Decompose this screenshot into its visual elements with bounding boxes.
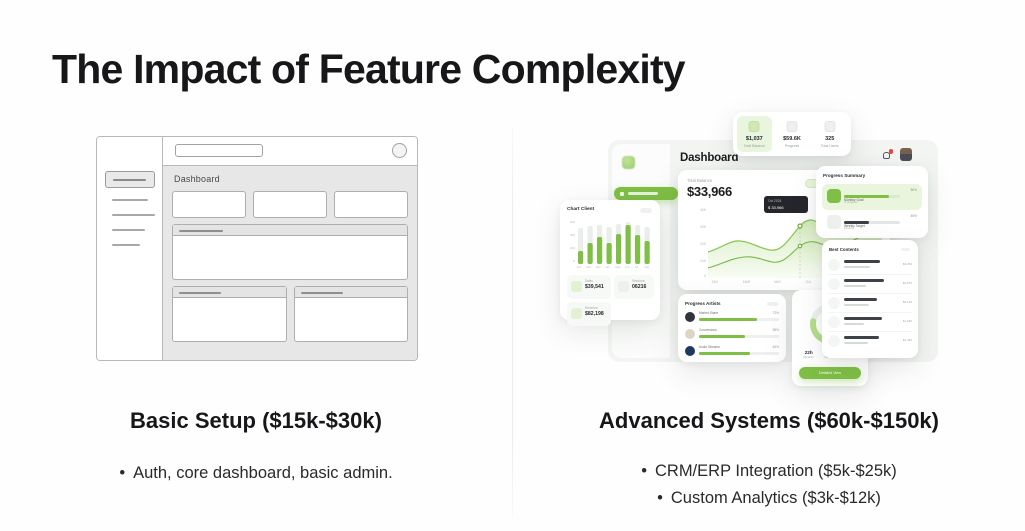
x-tick: Apr — [606, 265, 610, 269]
stat-value: 06216 — [632, 284, 650, 290]
stat-label: Sales — [585, 279, 607, 283]
wireframe-main: Dashboard — [163, 137, 417, 360]
list-item[interactable]: $1,430 — [828, 332, 912, 351]
wireframe-stat-row — [172, 191, 408, 218]
list-item[interactable]: $2,140 — [828, 294, 912, 313]
avatar[interactable] — [900, 148, 912, 161]
row-line-secondary — [844, 323, 864, 325]
gauge-stat-label: Duration — [798, 356, 819, 359]
target-icon — [828, 297, 840, 309]
bullet-item: Custom Analytics ($3k-$12k) — [513, 485, 1025, 512]
avatar-icon — [685, 346, 695, 356]
y-tick: 400 — [570, 233, 575, 237]
row-line-secondary — [844, 304, 869, 306]
stat-value: $82,198 — [585, 311, 607, 317]
x-tick: Jan — [577, 265, 582, 269]
wireframe-stat-card — [172, 191, 246, 218]
y-tick: 30K — [700, 225, 706, 229]
client-chart-y-axis: 600 400 200 0 — [565, 220, 575, 266]
dashboard-nav-item-dashboard[interactable] — [614, 187, 678, 200]
x-tick: MAY — [774, 280, 781, 284]
button-label: Detailed View — [799, 371, 861, 375]
calendar-icon — [828, 335, 840, 347]
gauge-stat-value: 22h — [798, 350, 819, 355]
wireframe-nav-item-4[interactable] — [112, 244, 140, 246]
stat-icon-2 — [787, 121, 798, 132]
progress-summary-card: Progress Summary Monthly Goal 80% In pro… — [816, 166, 928, 238]
wireframe-dashboard-label: Dashboard — [174, 174, 220, 184]
summary-row-active[interactable]: Monthly Goal 80% In progress — [822, 184, 922, 210]
summary-progress-bar — [844, 221, 900, 224]
user-icon — [827, 189, 841, 203]
stat-card-2[interactable]: $59.6K Progress — [775, 116, 810, 152]
summary-row-sub: Pending — [844, 227, 854, 230]
progress-percent: 58% — [773, 328, 779, 332]
wireframe-sidebar — [97, 137, 163, 360]
summary-row[interactable]: Weekly Target 45% Pending — [822, 210, 922, 236]
row-line-primary — [844, 260, 880, 263]
y-tick: 600 — [570, 220, 575, 224]
revenue-icon — [571, 308, 582, 319]
client-chart-x-axis: Jan Feb Mar Apr May Jun Jul Aug — [576, 265, 653, 270]
y-tick: 200 — [570, 246, 575, 250]
stat-value-2: $59.6K — [775, 136, 810, 142]
progress-artists-card: Progress Artists Market Share 72% Conver… — [678, 294, 786, 362]
left-column-heading: Basic Setup ($15k-$30k) — [0, 408, 512, 434]
list-item[interactable]: $1,920 — [828, 313, 912, 332]
stat-label: Revenue — [585, 306, 607, 310]
row-value: $1,430 — [903, 338, 912, 342]
y-tick: 20K — [700, 242, 706, 246]
dashboard-title: Dashboard — [680, 152, 738, 164]
chart-y-axis: 40K 30K 20K 10K 0 — [686, 208, 706, 280]
x-tick: Jun — [625, 265, 630, 269]
x-tick: May — [615, 265, 620, 269]
client-chart-menu-icon[interactable] — [640, 208, 652, 213]
x-tick: Feb — [586, 265, 591, 269]
client-stat-sessions: Sessions 06216 — [614, 275, 654, 299]
right-column-heading: Advanced Systems ($60k-$150k) — [513, 408, 1025, 434]
summary-row-percent: 80% — [911, 188, 917, 192]
progress-row: Conversions 58% — [685, 328, 779, 343]
avatar-icon — [685, 312, 695, 322]
row-line-primary — [844, 317, 882, 320]
stat-label-1: Total Balance — [737, 144, 772, 148]
stat-label-2: Progress — [775, 144, 810, 148]
row-value: $1,920 — [903, 319, 912, 323]
summary-row-sub: In progress — [844, 201, 857, 204]
y-tick: 0 — [704, 274, 706, 278]
wireframe-nav-item-1[interactable] — [112, 199, 148, 201]
list-item[interactable]: $3,250 — [828, 256, 912, 275]
row-line-primary — [844, 279, 884, 282]
wireframe-avatar[interactable] — [392, 143, 407, 158]
tooltip-value: $ 33,966 — [768, 205, 804, 210]
stat-icon-1 — [749, 121, 760, 132]
stat-label: Sessions — [632, 279, 650, 283]
row-line-secondary — [844, 266, 870, 268]
gear-icon — [827, 215, 841, 229]
client-stat-sales: Sales $39,541 — [567, 275, 611, 299]
progress-percent: 72% — [773, 311, 779, 315]
wireframe-bottom-row — [172, 286, 408, 342]
y-tick: 10K — [700, 259, 706, 263]
wireframe-panel-header — [173, 287, 286, 298]
row-line-primary — [844, 336, 879, 339]
sessions-icon — [618, 281, 629, 292]
left-column-bullets: Auth, core dashboard, basic admin. — [0, 460, 512, 487]
avatar-icon — [685, 329, 695, 339]
wireframe-bottom-panel — [294, 286, 409, 342]
sales-icon — [571, 281, 582, 292]
x-tick: JUL — [805, 280, 811, 284]
wireframe-nav-active[interactable] — [105, 171, 155, 188]
row-value: $2,140 — [903, 300, 912, 304]
stat-card-1[interactable]: $1,037 Total Balance — [737, 116, 772, 152]
wireframe-stat-card — [253, 191, 327, 218]
summary-progress-bar — [844, 195, 900, 198]
wireframe-search-input[interactable] — [175, 144, 263, 157]
bar-chart-svg — [576, 222, 653, 264]
wireframe-bottom-panel — [172, 286, 287, 342]
documents-list-card: Best Contents $3,250 $2,870 $2,140 — [822, 240, 918, 358]
row-line-secondary — [844, 342, 868, 344]
progress-bar — [699, 352, 779, 355]
stat-card-3[interactable]: 325 Total Users — [812, 116, 847, 152]
progress-percent: 64% — [773, 345, 779, 349]
wireframe-panel-header — [173, 225, 407, 236]
x-tick: MAR — [743, 280, 751, 284]
chart-tooltip: Oct 2024 $ 33,966 — [764, 196, 808, 213]
progress-name: Market Share — [699, 311, 718, 315]
progress-card-menu-icon[interactable] — [767, 302, 778, 306]
dashboard-logo-icon — [622, 156, 635, 169]
stat-value: $39,541 — [585, 284, 607, 290]
page-title: The Impact of Feature Complexity — [52, 46, 685, 93]
card-icon — [828, 316, 840, 328]
x-tick: Mar — [596, 265, 601, 269]
slide-root: The Impact of Feature Complexity Dashboa… — [0, 0, 1025, 531]
x-tick: JAN — [711, 280, 717, 284]
client-chart-plot — [576, 222, 653, 264]
wireframe-wide-panel — [172, 224, 408, 280]
progress-bar — [699, 318, 779, 321]
documents-title: Best Contents — [829, 247, 911, 252]
wireframe-panel-header — [295, 287, 408, 298]
stat-label-3: Total Users — [812, 144, 847, 148]
detailed-view-button[interactable]: Detailed View — [799, 367, 861, 379]
group-icon — [828, 278, 840, 290]
wireframe-nav-item-3[interactable] — [112, 229, 145, 231]
stat-icon-3 — [824, 121, 835, 132]
stat-value-3: 325 — [812, 136, 847, 142]
progress-name: Audio Streams — [699, 345, 720, 349]
x-tick: Aug — [644, 265, 649, 269]
basic-wireframe-mockup: Dashboard — [96, 136, 418, 361]
progress-name: Conversions — [699, 328, 717, 332]
row-value: $3,250 — [903, 262, 912, 266]
gauge-stat-1: 22h Duration — [798, 350, 819, 366]
wireframe-nav-item-2[interactable] — [112, 214, 155, 216]
documents-menu-icon[interactable] — [901, 248, 910, 251]
row-value: $2,870 — [903, 281, 912, 285]
list-item[interactable]: $2,870 — [828, 275, 912, 294]
progress-row: Market Share 72% — [685, 311, 779, 326]
wireframe-stat-card — [334, 191, 408, 218]
wireframe-body: Dashboard — [163, 166, 417, 360]
bullet-item: Auth, core dashboard, basic admin. — [0, 460, 512, 487]
progress-card-title: Progress Artists — [685, 301, 779, 306]
user-icon — [828, 259, 840, 271]
bullet-item: CRM/ERP Integration ($5k-$25k) — [513, 458, 1025, 485]
progress-row: Audio Streams 64% — [685, 345, 779, 360]
tooltip-label: Oct 2024 — [768, 199, 804, 203]
stat-value-1: $1,037 — [737, 136, 772, 142]
client-chart-card: Chart Client 600 400 200 0 — [560, 200, 660, 320]
advanced-dashboard-mockup: Dashboard $1,037 Total Balance $59.6K Pr… — [560, 112, 980, 392]
row-line-primary — [844, 298, 877, 301]
summary-title: Progress Summary — [823, 173, 921, 178]
progress-bar — [699, 335, 779, 338]
top-stats-strip: $1,037 Total Balance $59.6K Progress 325… — [733, 112, 851, 156]
y-tick: 40K — [700, 208, 706, 212]
summary-row-percent: 45% — [911, 214, 917, 218]
client-stat-revenue: Revenue $82,198 — [567, 302, 611, 326]
right-column-bullets: CRM/ERP Integration ($5k-$25k) Custom An… — [513, 458, 1025, 511]
bell-icon[interactable] — [882, 150, 892, 161]
y-tick: 0 — [573, 259, 575, 263]
wireframe-topbar — [163, 137, 417, 166]
x-tick: Jul — [635, 265, 639, 269]
row-line-secondary — [844, 285, 866, 287]
